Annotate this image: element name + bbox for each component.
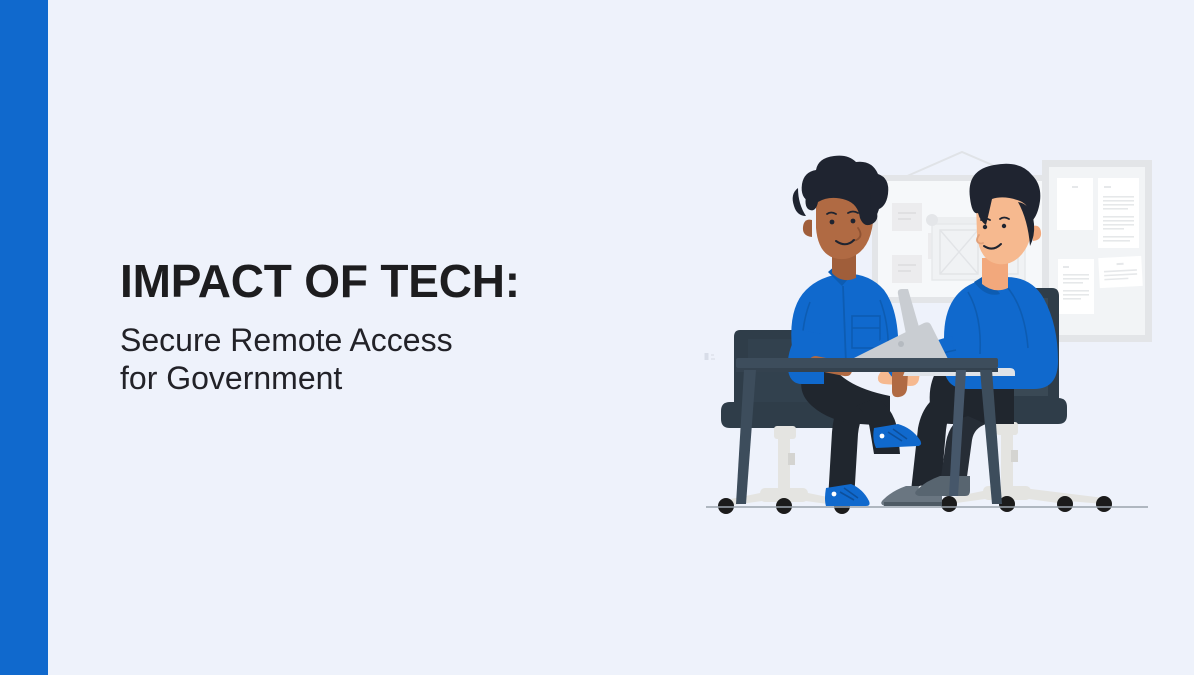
board-paper-1 bbox=[1057, 178, 1093, 230]
right-white-edge bbox=[1194, 0, 1200, 675]
sticky-note-bottom bbox=[892, 255, 922, 283]
subtitle-line-2: for Government bbox=[120, 359, 640, 397]
board-paper-2 bbox=[1098, 178, 1139, 248]
shoe-left-blue-upper bbox=[873, 424, 921, 448]
slide-text-block: IMPACT OF TECH: Secure Remote Access for… bbox=[120, 255, 640, 397]
accent-bar-left bbox=[0, 0, 48, 675]
board-paper-3 bbox=[1058, 259, 1094, 314]
shoe-left-blue-lower bbox=[825, 484, 870, 506]
board-paper-4 bbox=[1098, 256, 1143, 288]
subtitle-line-1: Secure Remote Access bbox=[120, 321, 640, 359]
page-title: IMPACT OF TECH: bbox=[120, 255, 640, 307]
decorative-speck bbox=[705, 353, 716, 360]
sticky-note-top bbox=[892, 203, 922, 231]
slide-canvas: IMPACT OF TECH: Secure Remote Access for… bbox=[0, 0, 1200, 675]
illustration-coworkers-at-desk bbox=[700, 140, 1170, 530]
page-subtitle: Secure Remote Access for Government bbox=[120, 321, 640, 397]
